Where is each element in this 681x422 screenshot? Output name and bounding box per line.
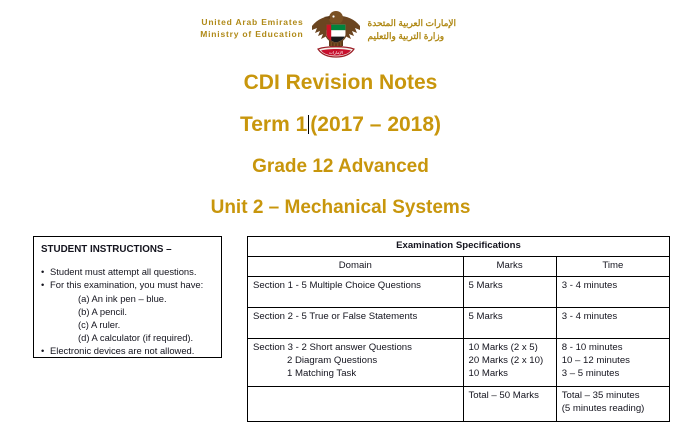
cell-total-time-line1: Total – 35 minutes (562, 390, 640, 401)
cell-time: 8 - 10 minutes 10 – 12 minutes 3 – 5 min… (556, 339, 669, 387)
cell-domain-main: Section 3 - 2 Short answer Questions (253, 342, 412, 353)
list-item: Electronic devices are not allowed. (41, 344, 214, 357)
table-row: Section 2 - 5 True or False Statements 5… (248, 308, 670, 339)
table-row: Section 3 - 2 Short answer Questions 2 D… (248, 339, 670, 387)
list-item: For this examination, you must have: (a)… (41, 278, 214, 344)
letterhead-arabic-line2: وزارة التربية والتعليم (368, 30, 528, 43)
table-row: Section 1 - 5 Multiple Choice Questions … (248, 277, 670, 308)
list-item: (c) A ruler. (78, 318, 214, 331)
cell-domain-sub2: 1 Matching Task (253, 367, 458, 380)
table-caption: Examination Specifications (248, 237, 670, 257)
cell-time: 3 - 4 minutes (556, 308, 669, 339)
cell-domain-sub1: 2 Diagram Questions (253, 354, 458, 367)
cell-marks: 10 Marks (2 x 5) 20 Marks (2 x 10) 10 Ma… (463, 339, 556, 387)
cell-total-time: Total – 35 minutes (5 minutes reading) (556, 387, 669, 422)
grade-title: Grade 12 Advanced (0, 157, 681, 176)
cell-domain: Section 1 - 5 Multiple Choice Questions (248, 277, 464, 308)
list-item: (d) A calculator (if required). (78, 331, 214, 344)
cell-time-line3: 3 – 5 minutes (562, 368, 620, 379)
letterhead-arabic-line1: الإمارات العربية المتحدة (368, 17, 528, 30)
cell-marks-line3: 10 Marks (469, 368, 508, 379)
table-row-total: Total – 50 Marks Total – 35 minutes (5 m… (248, 387, 670, 422)
document-title-block: CDI Revision Notes Term 1(2017 – 2018) G… (0, 62, 681, 217)
cell-domain-empty (248, 387, 464, 422)
list-item: Student must attempt all questions. (41, 265, 214, 278)
student-instructions-heading: STUDENT INSTRUCTIONS – (41, 243, 214, 256)
examination-specifications-table: Examination Specifications Domain Marks … (247, 236, 670, 422)
cell-time-line2: 10 – 12 minutes (562, 355, 630, 366)
cell-marks-line2: 20 Marks (2 x 10) (469, 355, 544, 366)
letterhead-arabic: الإمارات العربية المتحدة وزارة التربية و… (368, 8, 528, 43)
column-header-domain: Domain (248, 257, 464, 277)
table-caption-row: Examination Specifications (248, 237, 670, 257)
page-title: CDI Revision Notes (0, 72, 681, 93)
cell-domain: Section 3 - 2 Short answer Questions 2 D… (248, 339, 464, 387)
letterhead: United Arab Emirates Ministry of Educati… (0, 8, 681, 60)
table-header-row: Domain Marks Time (248, 257, 670, 277)
student-instructions-box: STUDENT INSTRUCTIONS – Student must atte… (33, 236, 222, 358)
list-item: (b) A pencil. (78, 305, 214, 318)
cell-total-marks: Total – 50 Marks (463, 387, 556, 422)
cell-domain: Section 2 - 5 True or False Statements (248, 308, 464, 339)
cell-time: 3 - 4 minutes (556, 277, 669, 308)
list-item: (a) An ink pen – blue. (78, 292, 214, 305)
unit-title: Unit 2 – Mechanical Systems (0, 198, 681, 217)
column-header-marks: Marks (463, 257, 556, 277)
student-instructions-list: Student must attempt all questions. For … (41, 265, 214, 357)
cell-marks: 5 Marks (463, 277, 556, 308)
letterhead-english-line2: Ministry of Education (154, 28, 304, 40)
term-title: Term 1(2017 – 2018) (0, 114, 681, 135)
term-title-prefix: Term 1 (240, 113, 307, 136)
term-title-suffix: (2017 – 2018) (310, 113, 441, 136)
cell-marks-line1: 10 Marks (2 x 5) (469, 342, 538, 353)
cell-marks: 5 Marks (463, 308, 556, 339)
cell-time-line1: 8 - 10 minutes (562, 342, 623, 353)
cell-total-time-line2: (5 minutes reading) (562, 403, 645, 414)
required-materials-list: (a) An ink pen – blue. (b) A pencil. (c)… (50, 292, 214, 345)
uae-falcon-emblem-icon: الإمارات (308, 8, 364, 60)
column-header-time: Time (556, 257, 669, 277)
list-item-label: For this examination, you must have: (50, 279, 203, 290)
letterhead-english-line1: United Arab Emirates (154, 16, 304, 28)
letterhead-english: United Arab Emirates Ministry of Educati… (154, 8, 304, 40)
